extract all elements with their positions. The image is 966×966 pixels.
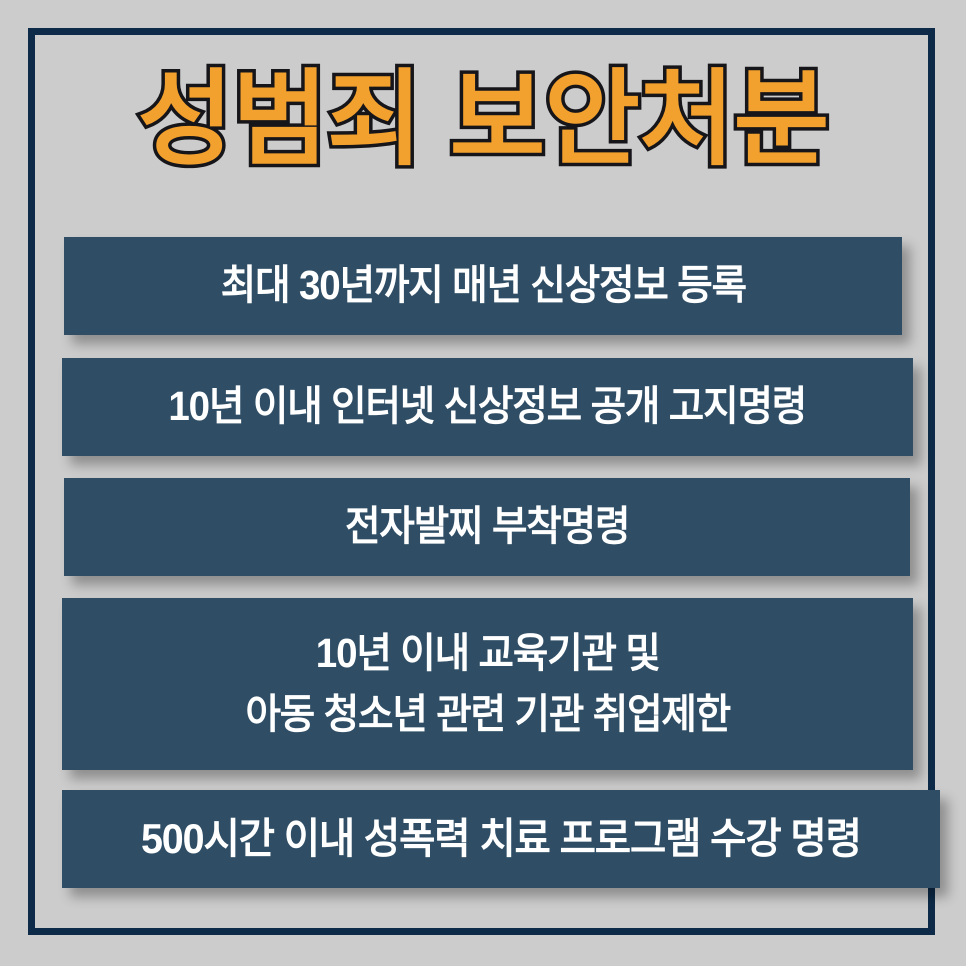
- measure-bar-text: 10년 이내 인터넷 신상정보 공개 고지명령: [169, 385, 807, 428]
- measure-bar-registration: 최대 30년까지 매년 신상정보 등록: [64, 237, 902, 335]
- measure-bar-electronic-anklet: 전자발찌 부착명령: [64, 478, 910, 576]
- poster-title: 성범죄 보안처분: [138, 62, 829, 178]
- measure-bar-employment-restriction: 10년 이내 교육기관 및 아동 청소년 관련 기관 취업제한: [62, 598, 913, 770]
- measure-bar-line: 10년 이내 교육기관 및: [245, 632, 730, 675]
- measure-bar-treatment-program: 500시간 이내 성폭력 치료 프로그램 수강 명령: [62, 790, 940, 888]
- measure-bar-text: 500시간 이내 성폭력 치료 프로그램 수강 명령: [141, 817, 861, 861]
- measure-bar-line: 아동 청소년 관련 기관 취업제한: [245, 693, 730, 736]
- poster-canvas: 성범죄 보안처분 최대 30년까지 매년 신상정보 등록 10년 이내 인터넷 …: [0, 0, 966, 966]
- measure-bar-text: 전자발찌 부착명령: [345, 505, 629, 548]
- measure-bar-text: 10년 이내 교육기관 및 아동 청소년 관련 기관 취업제한: [245, 632, 730, 735]
- measure-bar-text: 최대 30년까지 매년 신상정보 등록: [220, 264, 745, 307]
- measure-bar-line: 최대 30년까지 매년 신상정보 등록: [220, 264, 745, 307]
- measure-bar-line: 10년 이내 인터넷 신상정보 공개 고지명령: [169, 385, 807, 428]
- measure-bar-disclosure-notification: 10년 이내 인터넷 신상정보 공개 고지명령: [62, 358, 913, 456]
- measure-bar-line: 500시간 이내 성폭력 치료 프로그램 수강 명령: [141, 817, 861, 861]
- poster-title-container: 성범죄 보안처분: [0, 62, 966, 178]
- measure-bar-line: 전자발찌 부착명령: [345, 505, 629, 548]
